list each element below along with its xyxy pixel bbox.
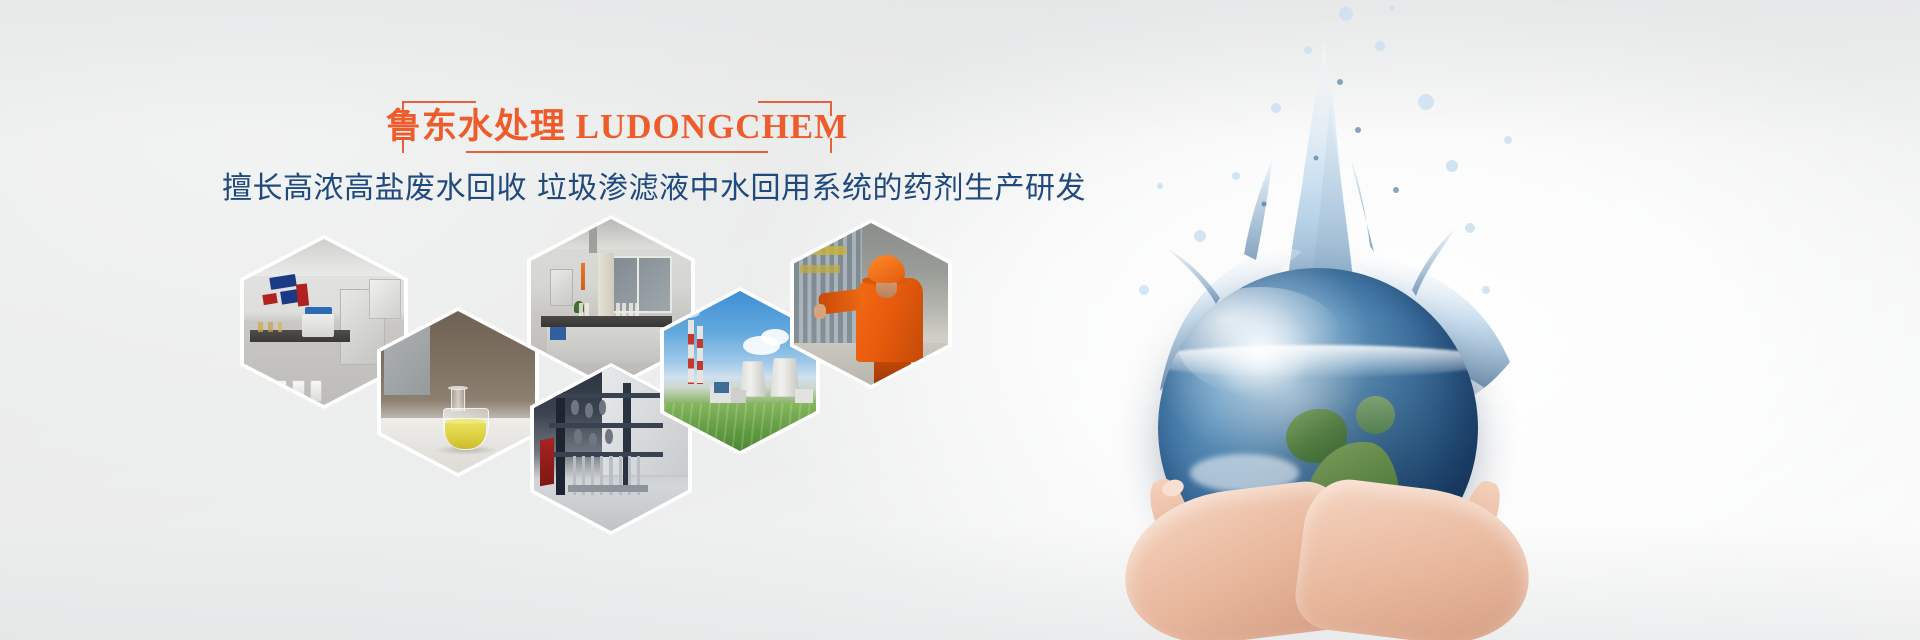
hexagon-gallery: [240, 215, 960, 525]
hero-water-globe: [1040, 0, 1600, 640]
brand-title: 鲁东水处理 LUDONGCHEM: [402, 100, 832, 152]
cupped-hands-icon: [1110, 460, 1530, 640]
brand-title-frame: 鲁东水处理 LUDONGCHEM: [402, 101, 832, 153]
site-banner: 鲁东水处理 LUDONGCHEM 擅长高浓高盐废水回收 垃圾渗滤液中水回用系统的…: [0, 0, 1920, 640]
banner-subtitle: 擅长高浓高盐废水回收 垃圾渗滤液中水回用系统的药剂生产研发: [222, 163, 1012, 207]
